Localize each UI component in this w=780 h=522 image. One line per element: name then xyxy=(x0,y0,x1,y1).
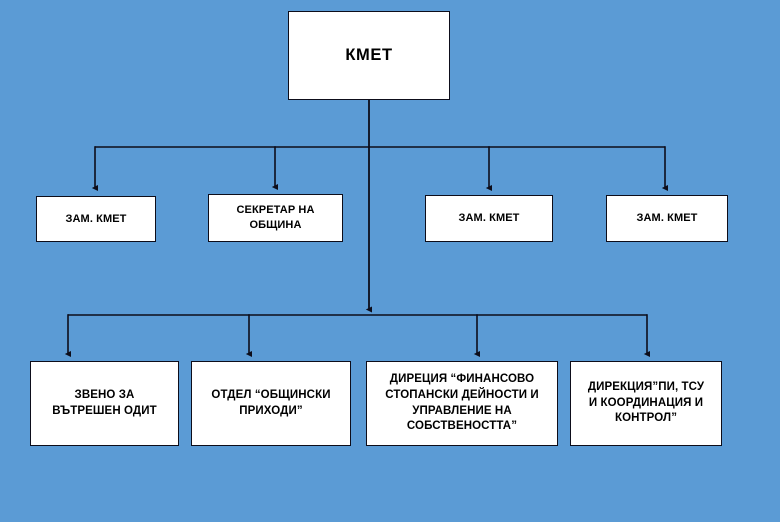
node-kmet[interactable]: КМЕТ xyxy=(288,11,450,100)
node-sekretar-obshtina-label: СЕКРЕТАР НА ОБЩИНА xyxy=(214,203,337,233)
node-direcia-fsdus[interactable]: ДИРЕЦИЯ “ФИНАНСОВО СТОПАНСКИ ДЕЙНОСТИ И … xyxy=(366,361,558,446)
node-sekretar-obshtina[interactable]: СЕКРЕТАР НА ОБЩИНА xyxy=(208,194,343,242)
node-zveno-vatreshen-odit[interactable]: ЗВЕНО ЗА ВЪТРЕШЕН ОДИТ xyxy=(30,361,179,446)
node-otdel-obshtinski-prihodi[interactable]: ОТДЕЛ “ОБЩИНСКИ ПРИХОДИ” xyxy=(191,361,351,446)
node-otdel-obshtinski-prihodi-label: ОТДЕЛ “ОБЩИНСКИ ПРИХОДИ” xyxy=(197,388,345,419)
node-zam-kmet-3-label: ЗАМ. КМЕТ xyxy=(612,211,722,226)
node-direcia-fsdus-label: ДИРЕЦИЯ “ФИНАНСОВО СТОПАНСКИ ДЕЙНОСТИ И … xyxy=(372,372,552,434)
org-chart: КМЕТ ЗАМ. КМЕТ СЕКРЕТАР НА ОБЩИНА ЗАМ. К… xyxy=(0,0,780,522)
node-kmet-label: КМЕТ xyxy=(294,44,444,66)
node-zam-kmet-2[interactable]: ЗАМ. КМЕТ xyxy=(425,195,553,242)
node-direkcia-pi-tsu[interactable]: ДИРЕКЦИЯ”ПИ, ТСУ И КООРДИНАЦИЯ И КОНТРОЛ… xyxy=(570,361,722,446)
node-direkcia-pi-tsu-label: ДИРЕКЦИЯ”ПИ, ТСУ И КООРДИНАЦИЯ И КОНТРОЛ… xyxy=(576,380,716,427)
node-zam-kmet-1[interactable]: ЗАМ. КМЕТ xyxy=(36,196,156,242)
node-zveno-vatreshen-odit-label: ЗВЕНО ЗА ВЪТРЕШЕН ОДИТ xyxy=(36,388,173,419)
level3-bus xyxy=(68,314,647,354)
level2-bus xyxy=(95,146,665,188)
node-zam-kmet-1-label: ЗАМ. КМЕТ xyxy=(42,212,150,227)
node-zam-kmet-3[interactable]: ЗАМ. КМЕТ xyxy=(606,195,728,242)
node-zam-kmet-2-label: ЗАМ. КМЕТ xyxy=(431,211,547,226)
